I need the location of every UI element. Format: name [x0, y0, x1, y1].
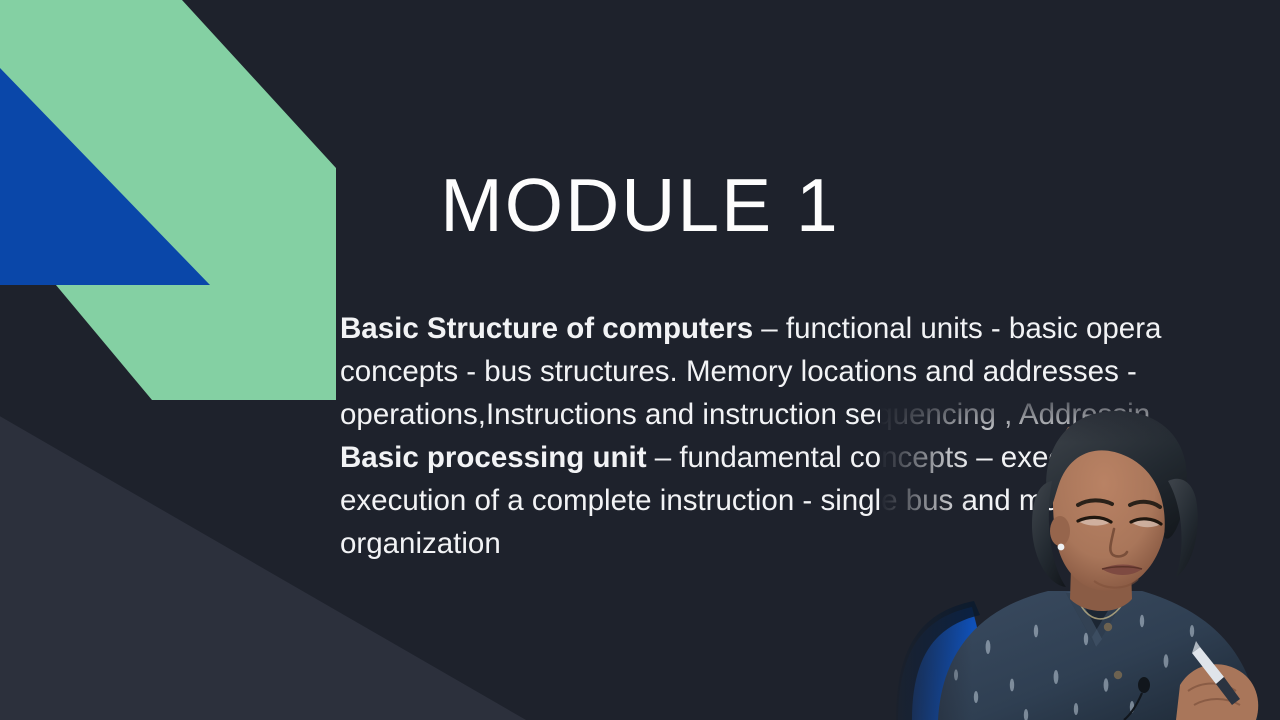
- slide-body-run: concepts - bus structures. Memory locati…: [340, 355, 1137, 388]
- lecture-slide-stage: MODULE 1 Basic Structure of computers – …: [0, 0, 1280, 720]
- blue-triangle-accent: [0, 0, 260, 300]
- presenter-webcam-overlay: [880, 385, 1280, 720]
- slide-body-emphasis: Basic processing unit: [340, 441, 647, 474]
- green-parallelogram-accent: [0, 0, 360, 420]
- slide-body-emphasis: Basic Structure of computers: [340, 312, 753, 345]
- slide-title: MODULE 1: [340, 168, 1240, 243]
- slide-body-run: – functional units - basic opera: [753, 312, 1161, 345]
- slide-body-run: organization: [340, 527, 501, 560]
- slide-body-line: Basic Structure of computers – functiona…: [340, 307, 1280, 350]
